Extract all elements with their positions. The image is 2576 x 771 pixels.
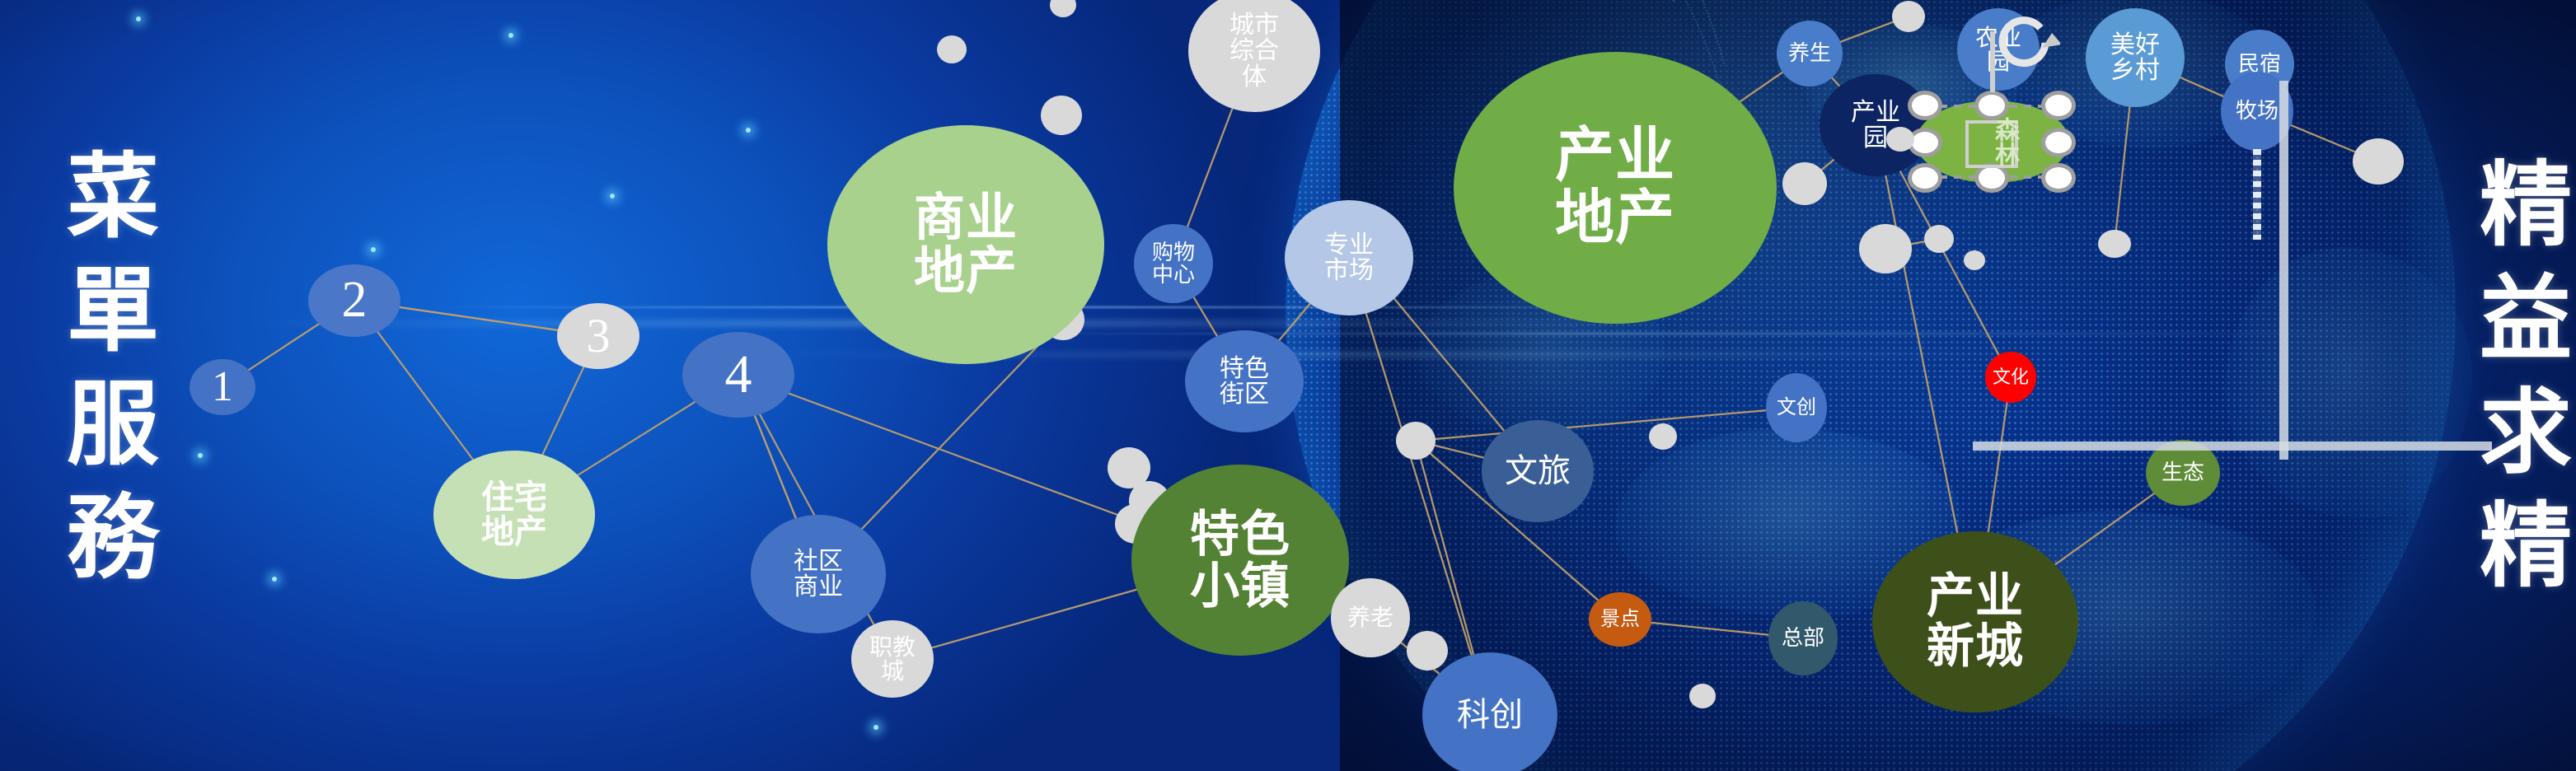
infographic-canvas: 住宅 地产商业 地产产业 地产特色 小镇产业 新城城市 综合 体购物 中心专业 … xyxy=(0,0,2576,771)
vignette-overlay xyxy=(0,0,2576,771)
